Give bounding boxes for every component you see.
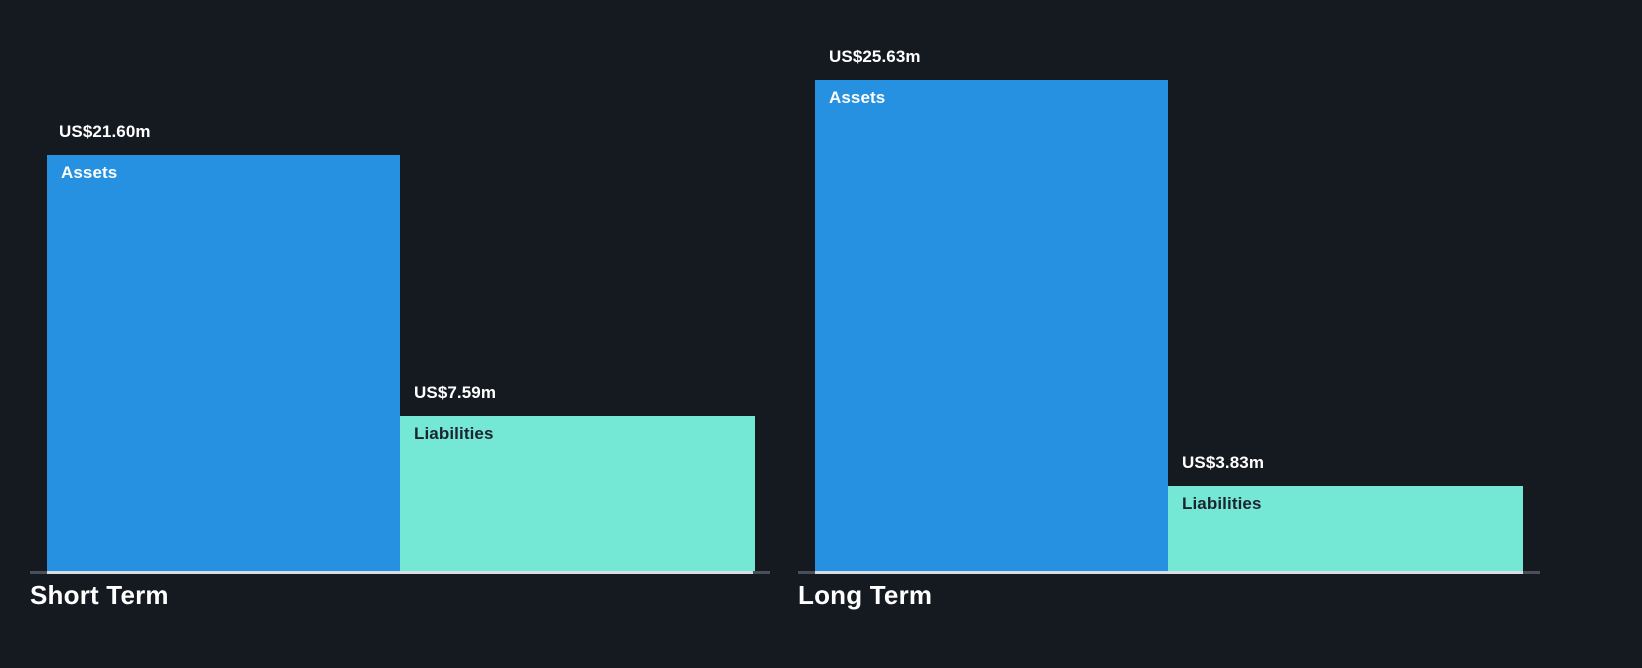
axis-baseline-long-term (798, 571, 1540, 574)
bar-short-term-assets[interactable]: Assets (47, 155, 400, 571)
plot-area-long-term: Assets US$25.63m Liabilities US$3.83m (798, 0, 1540, 571)
chart-group-short-term: Assets US$21.60m Liabilities US$7.59m Sh… (30, 0, 770, 668)
axis-baseline-short-term (30, 571, 770, 574)
category-title-long-term: Long Term (798, 580, 932, 611)
bar-label-long-term-assets: Assets (829, 88, 885, 108)
plot-area-short-term: Assets US$21.60m Liabilities US$7.59m (30, 0, 770, 571)
axis-line-short-term (47, 571, 753, 574)
value-label-long-term-liabilities: US$3.83m (1182, 453, 1264, 473)
value-label-long-term-assets: US$25.63m (829, 47, 921, 67)
value-label-short-term-assets: US$21.60m (59, 122, 151, 142)
bar-long-term-liabilities[interactable]: Liabilities (1168, 486, 1523, 571)
axis-cap-right-long-term (1523, 571, 1540, 574)
financial-position-bar-chart: Assets US$21.60m Liabilities US$7.59m Sh… (0, 0, 1642, 668)
axis-cap-right-short-term (753, 571, 770, 574)
axis-line-long-term (815, 571, 1523, 574)
category-title-short-term: Short Term (30, 580, 169, 611)
axis-cap-left-short-term (30, 571, 47, 574)
bar-long-term-assets[interactable]: Assets (815, 80, 1168, 571)
bar-short-term-liabilities[interactable]: Liabilities (400, 416, 755, 571)
value-label-short-term-liabilities: US$7.59m (414, 383, 496, 403)
chart-group-long-term: Assets US$25.63m Liabilities US$3.83m Lo… (798, 0, 1540, 668)
bar-label-long-term-liabilities: Liabilities (1182, 494, 1262, 514)
bar-label-short-term-liabilities: Liabilities (414, 424, 494, 444)
axis-cap-left-long-term (798, 571, 815, 574)
bar-label-short-term-assets: Assets (61, 163, 117, 183)
